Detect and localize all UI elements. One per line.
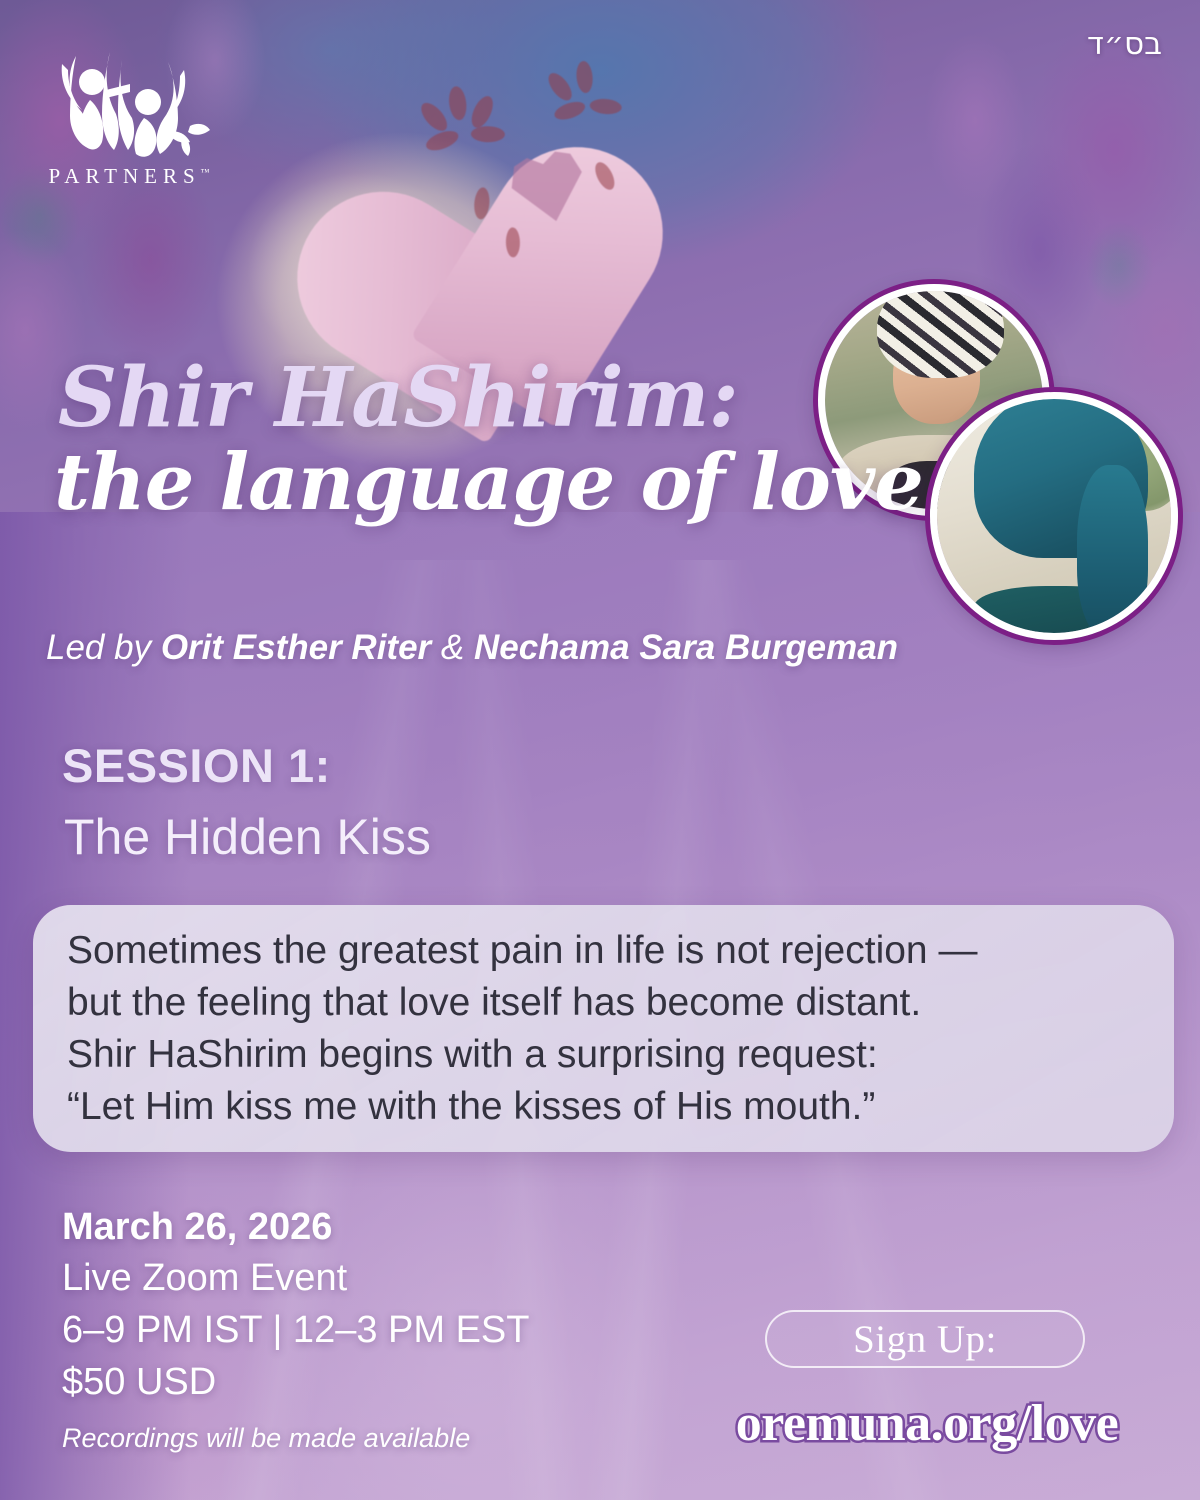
oremuna-partners-logo: PARTNERS™ [44,44,214,189]
photo-image [937,399,1171,633]
title-line-1: Shir HaShirim: [58,360,923,438]
event-time: 6–9 PM IST | 12–3 PM EST [62,1304,530,1356]
bsd-inscription: בס״ד [1087,26,1162,62]
poster-title: Shir HaShirim: the language of love [58,360,923,520]
speaker-photo-nechama-sara-burgeman [930,392,1178,640]
description-line: “Let Him kiss me with the kisses of His … [67,1081,1140,1133]
event-mode: Live Zoom Event [62,1252,530,1304]
two-figures-aleph-icon [44,44,214,162]
speakers-line: Led by Orit Esther Riter & Nechama Sara … [46,628,898,668]
description-line: Sometimes the greatest pain in life is n… [67,925,1140,977]
recordings-note: Recordings will be made available [62,1414,530,1462]
event-date: March 26, 2026 [62,1202,530,1252]
trademark-icon: ™ [201,167,210,177]
logo-wordmark-text: PARTNERS [49,164,201,188]
description-line: but the feeling that love itself has bec… [67,977,1140,1029]
led-by-prefix: Led by [46,628,161,667]
title-line-2: the language of love [54,446,923,520]
event-details: March 26, 2026 Live Zoom Event 6–9 PM IS… [62,1202,530,1462]
decorative-heart-ornament [332,0,728,381]
session-description-card: Sometimes the greatest pain in life is n… [33,905,1174,1152]
logo-wordmark: PARTNERS™ [49,164,210,189]
speaker-name-2: Nechama Sara Burgeman [474,628,898,667]
heart-inner-cutout [506,147,591,229]
session-label: SESSION 1: [62,738,331,793]
description-line: Shir HaShirim begins with a surprising r… [67,1029,1140,1081]
event-price: $50 USD [62,1356,530,1408]
event-flyer: PARTNERS™ בס״ד Shir HaShirim: the langua… [0,0,1200,1500]
speakers-conjunction: & [431,628,474,667]
session-title: The Hidden Kiss [64,808,431,866]
sign-up-button[interactable]: Sign Up: [765,1310,1085,1368]
sign-up-button-label: Sign Up: [853,1317,997,1362]
speaker-name-1: Orit Esther Riter [161,628,431,667]
sign-up-url-link[interactable]: oremuna.org/love [727,1394,1127,1453]
